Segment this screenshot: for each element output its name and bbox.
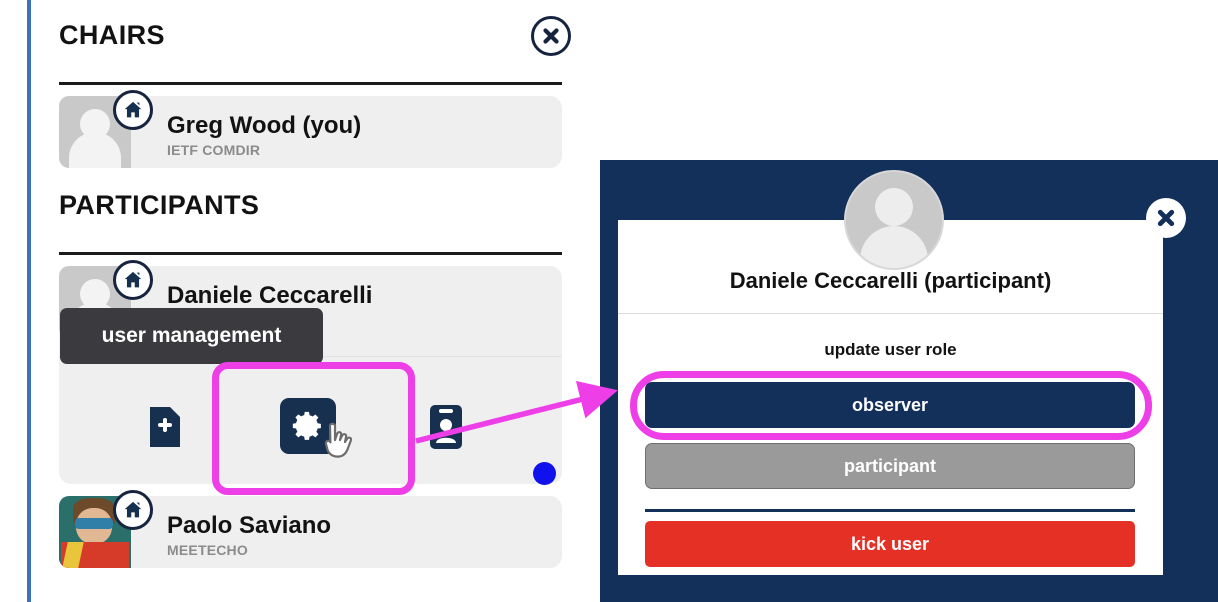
dialog-section-label: update user role <box>618 340 1163 360</box>
annotation-highlight-gear <box>212 362 415 495</box>
tooltip-user-management: user management <box>60 308 323 364</box>
annotation-highlight-observer <box>630 371 1152 440</box>
home-glyph <box>122 269 144 291</box>
status-badge <box>533 462 556 485</box>
home-glyph <box>122 99 144 121</box>
participants-panel: CHAIRS Greg Wood (you) IETF COMDIR PARTI… <box>27 0 587 602</box>
list-item-org: IETF COMDIR <box>167 142 260 158</box>
list-item-name: Paolo Saviano <box>167 512 331 540</box>
list-item-name: Daniele Ceccarelli <box>167 282 372 310</box>
close-icon[interactable] <box>531 16 571 56</box>
close-icon[interactable] <box>1146 198 1186 238</box>
divider-participants <box>59 252 562 255</box>
dialog-title: Daniele Ceccarelli (participant) <box>618 268 1163 294</box>
id-card-glyph <box>428 403 464 451</box>
close-x-glyph <box>1155 207 1177 229</box>
list-item-org: MEETECHO <box>167 542 248 558</box>
participant-button[interactable]: participant <box>645 443 1135 489</box>
document-plus-glyph <box>148 405 182 449</box>
home-icon <box>113 260 153 300</box>
home-icon <box>113 90 153 130</box>
section-title-participants: PARTICIPANTS <box>59 190 259 221</box>
list-item-name: Greg Wood (you) <box>167 112 361 140</box>
dialog-divider-2 <box>645 509 1135 512</box>
document-plus-icon[interactable] <box>148 405 182 454</box>
list-item-participant[interactable]: Paolo Saviano MEETECHO <box>59 496 562 568</box>
section-title-chairs: CHAIRS <box>59 20 165 51</box>
screenshot-root: CHAIRS Greg Wood (you) IETF COMDIR PARTI… <box>0 0 1218 602</box>
list-item-chair[interactable]: Greg Wood (you) IETF COMDIR <box>59 96 562 168</box>
divider-chairs <box>59 82 562 85</box>
dialog-divider <box>618 313 1163 314</box>
avatar <box>844 170 944 270</box>
home-icon <box>113 490 153 530</box>
id-card-icon[interactable] <box>428 403 464 456</box>
kick-user-button[interactable]: kick user <box>645 521 1135 567</box>
home-glyph <box>122 499 144 521</box>
close-x-glyph <box>541 26 561 46</box>
